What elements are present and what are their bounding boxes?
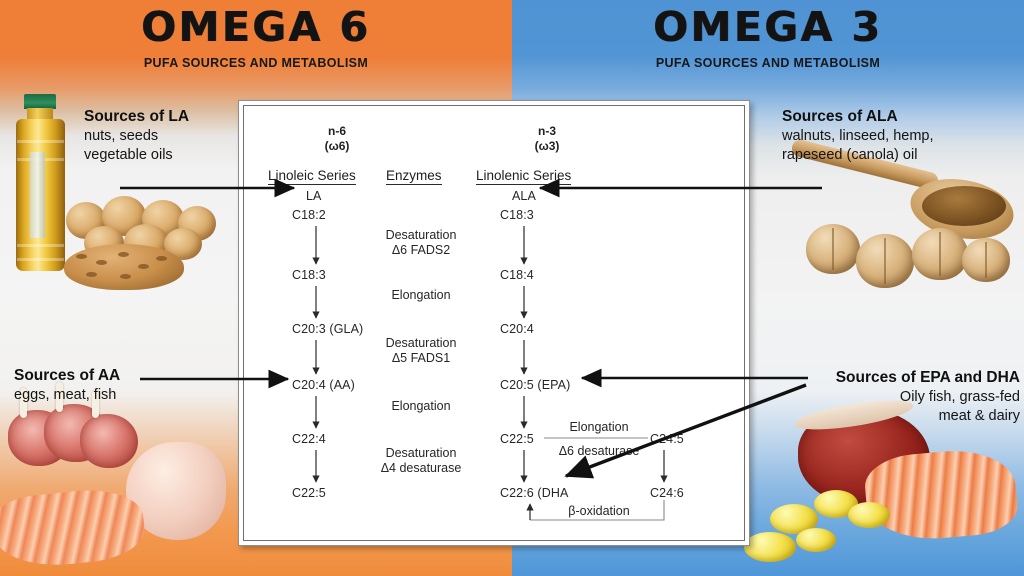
omega3-subtitle: PUFA SOURCES AND METABOLISM bbox=[512, 56, 1024, 70]
callout-aa-title: Sources of AA bbox=[14, 366, 120, 386]
diagram-connectors bbox=[244, 106, 748, 544]
pufa-metabolism-diagram: n-6 (ω6) n-3 (ω3) Linoleic Series Enzyme… bbox=[244, 106, 744, 540]
omega6-subtitle: PUFA SOURCES AND METABOLISM bbox=[0, 56, 512, 70]
callout-ala-line2: rapeseed (canola) oil bbox=[782, 146, 934, 165]
diagram-inner-border: n-6 (ω6) n-3 (ω3) Linoleic Series Enzyme… bbox=[243, 105, 745, 541]
callout-sources-of-epa-dha: Sources of EPA and DHA Oily fish, grass-… bbox=[784, 368, 1020, 426]
meat-and-fish-image bbox=[0, 400, 228, 576]
omega3-title: OMEGA 3 bbox=[512, 6, 1024, 49]
callout-aa-line1: eggs, meat, fish bbox=[14, 386, 120, 405]
slide-canvas: OMEGA 6 PUFA SOURCES AND METABOLISM OMEG… bbox=[0, 0, 1024, 576]
callout-la-title: Sources of LA bbox=[84, 107, 189, 127]
callout-la-line1: nuts, seeds bbox=[84, 127, 189, 146]
callout-sources-of-aa: Sources of AA eggs, meat, fish bbox=[14, 366, 120, 405]
callout-epa-dha-title: Sources of EPA and DHA bbox=[784, 368, 1020, 388]
callout-sources-of-la: Sources of LA nuts, seeds vegetable oils bbox=[84, 107, 189, 165]
callout-epa-dha-line2: meat & dairy bbox=[784, 407, 1020, 426]
callout-ala-title: Sources of ALA bbox=[782, 107, 934, 127]
omega6-title: OMEGA 6 bbox=[0, 6, 512, 49]
callout-la-line2: vegetable oils bbox=[84, 146, 189, 165]
callout-ala-line1: walnuts, linseed, hemp, bbox=[782, 127, 934, 146]
linseed-spoon-image bbox=[790, 150, 1024, 300]
metabolism-diagram-panel: n-6 (ω6) n-3 (ω3) Linoleic Series Enzyme… bbox=[238, 100, 750, 546]
omega3-header: OMEGA 3 PUFA SOURCES AND METABOLISM bbox=[512, 0, 1024, 70]
callout-sources-of-ala: Sources of ALA walnuts, linseed, hemp, r… bbox=[782, 107, 934, 165]
callout-epa-dha-line1: Oily fish, grass-fed bbox=[784, 388, 1020, 407]
omega6-header: OMEGA 6 PUFA SOURCES AND METABOLISM bbox=[0, 0, 512, 70]
nuts-and-seeds-image bbox=[60, 196, 220, 292]
